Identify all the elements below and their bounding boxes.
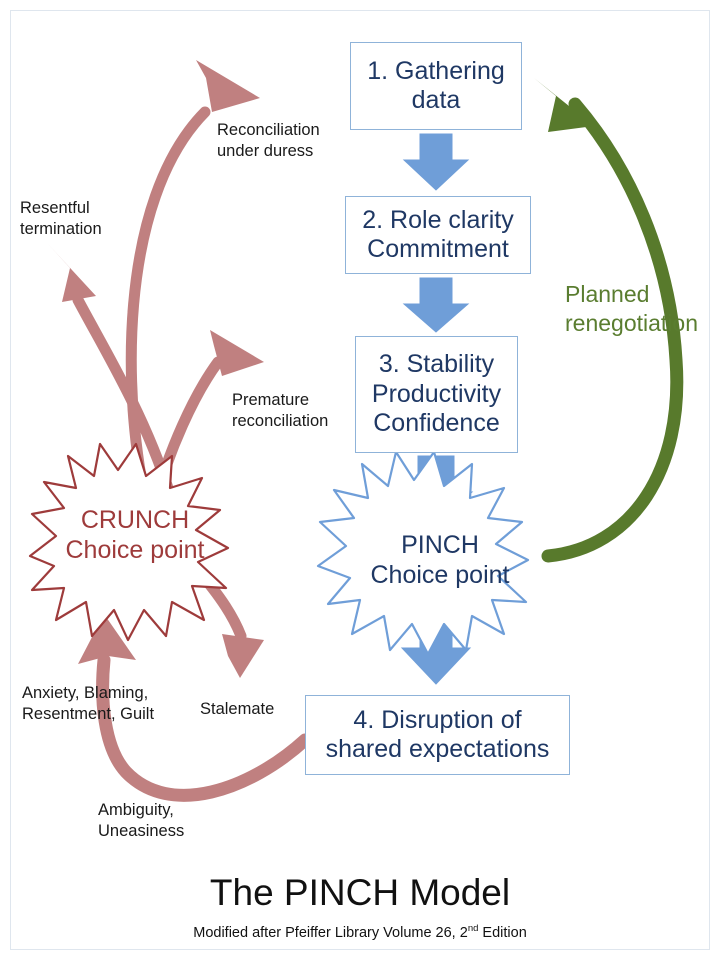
- box2-line1: 2. Role clarity: [362, 206, 513, 234]
- label-planned-renegotiation: Planned renegotiation: [565, 280, 720, 338]
- reconciliation-line1: Reconciliation: [217, 121, 320, 139]
- node-gathering-data[interactable]: 1. Gathering data: [350, 42, 522, 130]
- subtitle-after: Edition: [478, 925, 526, 941]
- label-resentful-termination: Resentful termination: [20, 198, 150, 239]
- ambiguity-line1: Ambiguity,: [98, 801, 174, 819]
- node-stability-productivity-confidence[interactable]: 3. Stability Productivity Confidence: [355, 336, 518, 453]
- planned-line2: renegotiation: [565, 310, 698, 336]
- node-disruption-shared-expectations[interactable]: 4. Disruption of shared expectations: [305, 695, 570, 775]
- diagram-subtitle: Modified after Pfeiffer Library Volume 2…: [0, 923, 720, 941]
- pinch-model-diagram: 1. Gathering data 2. Role clarity Commit…: [0, 0, 720, 960]
- anxiety-line1: Anxiety, Blaming,: [22, 684, 148, 702]
- node-role-clarity-commitment[interactable]: 2. Role clarity Commitment: [345, 196, 531, 274]
- box2-line2: Commitment: [367, 235, 509, 263]
- box4-line1: 4. Disruption of: [353, 706, 521, 734]
- premature-line2: reconciliation: [232, 412, 328, 430]
- diagram-title: The PINCH Model: [0, 872, 720, 914]
- reconciliation-line2: under duress: [217, 142, 313, 160]
- stalemate-line1: Stalemate: [200, 700, 274, 718]
- box3-line3: Confidence: [373, 409, 499, 437]
- box3-line1: 3. Stability: [379, 350, 494, 378]
- label-premature-reconciliation: Premature reconciliation: [232, 390, 352, 431]
- crunch-star: [30, 444, 228, 640]
- resentful-line1: Resentful: [20, 199, 90, 217]
- premature-line1: Premature: [232, 391, 309, 409]
- box3-line2: Productivity: [372, 380, 501, 408]
- label-ambiguity-uneasiness: Ambiguity, Uneasiness: [98, 800, 238, 841]
- box1-line2: data: [412, 86, 461, 114]
- anxiety-line2: Resentment, Guilt: [22, 705, 154, 723]
- arrow-box1-to-box2: [404, 134, 468, 190]
- planned-line1: Planned: [565, 281, 649, 307]
- subtitle-before: Modified after Pfeiffer Library Volume 2…: [193, 925, 468, 941]
- arrow-box2-to-box3: [404, 278, 468, 332]
- label-reconciliation-under-duress: Reconciliation under duress: [217, 120, 347, 161]
- label-anxiety-blaming-resentment-guilt: Anxiety, Blaming, Resentment, Guilt: [22, 683, 192, 724]
- resentful-line2: termination: [20, 220, 102, 238]
- box1-line1: 1. Gathering: [367, 57, 505, 85]
- box4-line2: shared expectations: [326, 735, 550, 763]
- subtitle-ordinal: nd: [468, 923, 479, 934]
- pinch-star: [318, 452, 528, 654]
- label-stalemate: Stalemate: [200, 699, 310, 720]
- ambiguity-line2: Uneasiness: [98, 822, 184, 840]
